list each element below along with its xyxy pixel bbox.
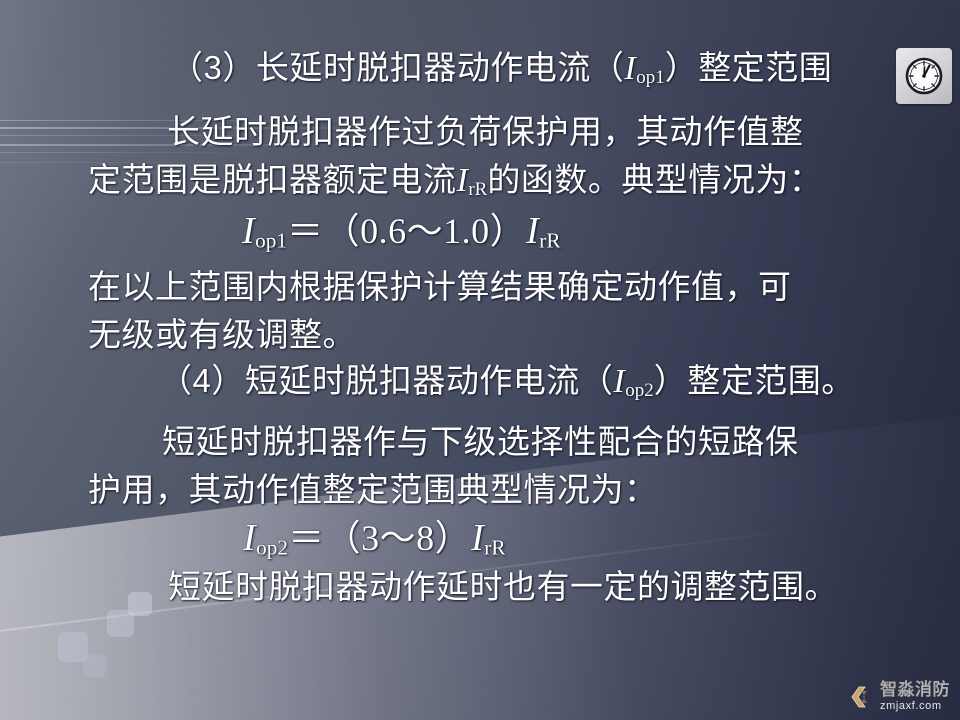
text-run: 定范围是脱扣器额定电流 bbox=[88, 161, 457, 198]
text-line-7: （4）短延时脱扣器动作电流（Iop2）整定范围。 bbox=[159, 357, 855, 414]
text-line-5: 在以上范围内根据保护计算结果确定动作值，可 bbox=[88, 263, 792, 310]
text-line-8: 短延时脱扣器作与下级选择性配合的短路保 bbox=[162, 418, 799, 465]
watermark-url: zmjaxf.com bbox=[880, 701, 942, 712]
math-variable: IrR bbox=[526, 210, 560, 252]
text-line-2: 长延时脱扣器作过负荷保护用，其动作值整 bbox=[167, 108, 804, 155]
math-variable: IrR bbox=[471, 517, 505, 559]
slide-canvas: （3）长延时脱扣器动作电流（Iop1）整定范围 长延时脱扣器作过负荷保护用，其动… bbox=[0, 0, 960, 720]
watermark: 智淼消防 zmjaxf.com bbox=[850, 682, 950, 712]
text-run: 护用，其动作值整定范围典型情况为： bbox=[88, 471, 658, 508]
text-run: ）整定范围。 bbox=[654, 362, 855, 399]
text-run: 短延时脱扣器动作延时也有一定的调整范围。 bbox=[168, 568, 838, 605]
watermark-title: 智淼消防 bbox=[880, 682, 950, 699]
text-run: ＝（3～8） bbox=[288, 518, 471, 558]
text-run: 无级或有级调整。 bbox=[88, 316, 356, 353]
math-variable: Iop2 bbox=[613, 363, 653, 400]
math-variable: Iop1 bbox=[242, 210, 287, 252]
text-run: 长延时脱扣器作过负荷保护用，其动作值整 bbox=[167, 113, 804, 150]
watermark-logo-icon bbox=[850, 684, 876, 710]
text-run: 的函数。典型情况为： bbox=[487, 161, 822, 198]
math-variable: Iop1 bbox=[624, 50, 664, 87]
decorative-squares bbox=[28, 588, 158, 678]
math-variable: Iop2 bbox=[243, 517, 288, 559]
text-line-3: 定范围是脱扣器额定电流IrR的函数。典型情况为： bbox=[88, 156, 822, 213]
text-run: 在以上范围内根据保护计算结果确定动作值，可 bbox=[88, 268, 792, 305]
clock-dial-icon bbox=[896, 48, 952, 104]
text-run: （4）短延时脱扣器动作电流（ bbox=[159, 362, 613, 399]
text-run: （3）长延时脱扣器动作电流（ bbox=[170, 49, 624, 86]
text-line-6: 无级或有级调整。 bbox=[88, 311, 356, 358]
text-run: ＝（0.6～1.0） bbox=[287, 211, 526, 251]
formula-line-iop1: Iop1＝（0.6～1.0）IrR bbox=[242, 208, 561, 265]
math-variable: IrR bbox=[457, 162, 488, 199]
text-line-11: 短延时脱扣器动作延时也有一定的调整范围。 bbox=[168, 563, 838, 610]
text-line-9: 护用，其动作值整定范围典型情况为： bbox=[88, 466, 658, 513]
text-line-1: （3）长延时脱扣器动作电流（Iop1）整定范围 bbox=[170, 44, 832, 101]
text-run: 短延时脱扣器作与下级选择性配合的短路保 bbox=[162, 423, 799, 460]
text-run: ）整定范围 bbox=[665, 49, 833, 86]
